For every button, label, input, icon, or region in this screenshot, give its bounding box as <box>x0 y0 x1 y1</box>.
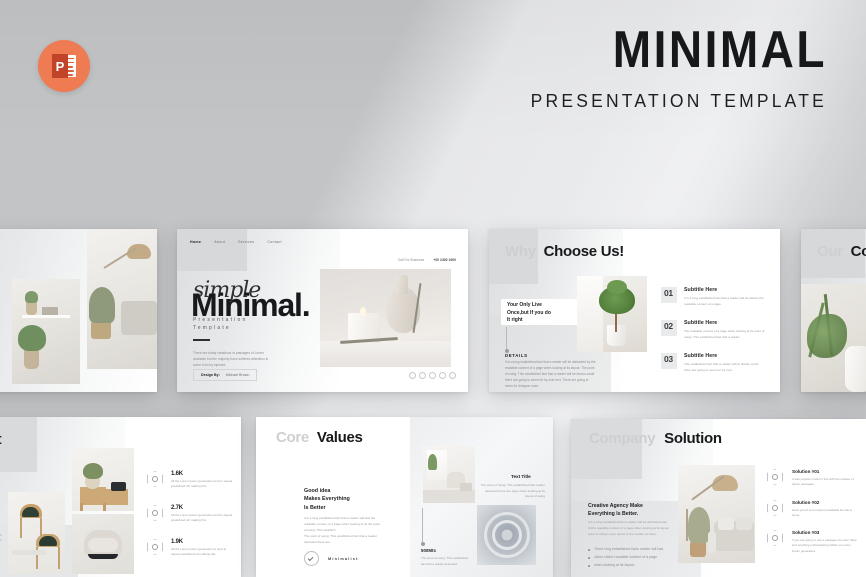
powerpoint-icon[interactable]: P <box>38 40 90 92</box>
hero-subtitle-1: Presentation <box>193 316 247 324</box>
idea-icon <box>767 469 783 485</box>
people-icon <box>147 539 163 555</box>
right-title: Text Title <box>511 474 531 479</box>
stat-body-text: All the Lorem Ipsum generators tend to r… <box>171 513 233 524</box>
photo-lamp <box>87 229 157 369</box>
preview-canvas: P MINIMAL PRESENTATION TEMPLATE <box>0 0 866 577</box>
solution-body-text: If you are going to use a passage of Lor… <box>792 538 859 554</box>
details-body: It is a long established fact that a rea… <box>505 360 597 390</box>
slide-surface: Our Cont <box>801 229 866 392</box>
photo-vase-table <box>72 448 134 511</box>
badge-label: Minimalist <box>328 557 359 561</box>
stat-body-text: All the Lorem Ipsum generators tend to r… <box>171 479 233 490</box>
lead-line-2: Makes Everything <box>304 495 350 503</box>
heading-ghost: Why <box>505 243 536 260</box>
social-dot-2[interactable] <box>419 372 426 379</box>
solution-title: Solution #02 <box>792 500 859 505</box>
bullet-item: when looking at its layout. <box>588 563 670 567</box>
item-body: It is a long established fact that a rea… <box>684 296 766 307</box>
solution-row[interactable]: Solution #02 Have you of Lorem Ipsum ava… <box>767 500 859 519</box>
nav-item-services[interactable]: Services <box>238 240 254 244</box>
slide-our-contact[interactable]: Our Cont <box>801 229 866 392</box>
vertical-rule <box>422 508 423 544</box>
stat-value: 1.6K <box>171 471 233 477</box>
photo-plant <box>577 276 647 352</box>
powerpoint-letter: P <box>52 54 68 78</box>
lead-line-1: Creative Agency Make <box>588 503 643 511</box>
solution-row[interactable]: Solution #03 If you are going to use a p… <box>767 530 859 554</box>
slide-product[interactable]: oduct vestor Deck uct. <box>0 417 241 577</box>
list-item[interactable]: 01 Subtitle Here It is a long establishe… <box>661 287 766 307</box>
slide-hero[interactable]: Home About Services Contact Call For Bus… <box>177 229 468 392</box>
slide-surface: Core Values Good idea Makes Everything I… <box>256 417 553 577</box>
page-subtitle: PRESENTATION TEMPLATE <box>531 90 827 112</box>
stat-body-text: All the Lorem Ipsum generators te tend t… <box>171 547 233 558</box>
slide-heading: oduct <box>0 431 1 448</box>
list-item[interactable]: 02 Subtitle Here The readable content of… <box>661 320 766 340</box>
stat-body: 1.9K All the Lorem Ipsum generators te t… <box>171 539 233 558</box>
credit-label: Design By: <box>201 373 220 377</box>
slide-heading: Our Cont <box>817 243 866 260</box>
minimalist-badge[interactable]: Minimalist <box>304 551 359 566</box>
quote-line-3: It right <box>507 317 551 325</box>
metric-body: The point of using. This established fac… <box>421 556 469 567</box>
stat-value: 2.7K <box>171 505 233 511</box>
item-body: The readable content of a page when look… <box>684 329 766 340</box>
slide-nav[interactable]: Home About Services Contact <box>190 240 282 244</box>
target-icon <box>767 530 783 546</box>
badge-icon <box>147 471 163 487</box>
solution-title: Solution #03 <box>792 530 859 535</box>
solution-row[interactable]: Solution #01 It was popular model in thi… <box>767 469 859 488</box>
stat-row[interactable]: 1.6K All the Lorem Ipsum generators tend… <box>147 471 233 490</box>
slide-surface: Why Choose Us! Your Only Live Once,but I… <box>489 229 780 392</box>
social-dots[interactable] <box>409 372 456 379</box>
lead-body-lines <box>0 534 2 549</box>
lead-line-3: Is Better <box>304 504 350 512</box>
item-number: 02 <box>664 321 673 331</box>
stat-row[interactable]: 1.9K All the Lorem Ipsum generators te t… <box>147 539 233 558</box>
stat-body: 2.7K All the Lorem Ipsum generators tend… <box>171 505 233 524</box>
bullet-item: cliche cliche readable content of a page <box>588 555 670 559</box>
bullet-item: There long established facts reader will… <box>588 547 670 551</box>
lead-text: Good idea Makes Everything Is Better <box>304 487 350 512</box>
credit-tag: Design By: Michael Brown <box>193 369 257 381</box>
photo-lamp-sofa <box>678 465 755 563</box>
list-item[interactable]: 03 Subtitle Here This established fact t… <box>661 353 766 373</box>
powerpoint-glyph: P <box>52 54 76 78</box>
heading-solid: Solution <box>664 430 722 447</box>
item-title: Subtitle Here <box>684 353 766 359</box>
contact-phone: +00 2400 1900 <box>433 258 456 262</box>
body-2: The point of using. This established fac… <box>304 534 382 546</box>
body-text: It is a long established fact a reader w… <box>588 520 670 538</box>
group-icon <box>147 505 163 521</box>
bulb-icon <box>767 500 783 516</box>
slide-heading: Why Choose Us! <box>505 243 624 260</box>
item-number: 01 <box>664 288 673 298</box>
photo-armchair <box>72 514 134 574</box>
stat-body: 1.6K All the Lorem Ipsum generators tend… <box>171 471 233 490</box>
slide-company-solution[interactable]: Company Solution Creative Agency Make Ev… <box>571 419 866 577</box>
page-title: MINIMAL <box>531 22 827 76</box>
contact-label: Call For Business <box>398 258 425 262</box>
item-number-box: 02 <box>661 320 677 336</box>
heading-ghost: Our <box>817 243 843 260</box>
photo-vase-candle <box>320 269 451 367</box>
item-body-wrap: Subtitle Here It is a long established f… <box>684 287 766 307</box>
item-body-wrap: Subtitle Here The readable content of a … <box>684 320 766 340</box>
photo-chair-left <box>8 492 65 574</box>
item-number-box: 03 <box>661 353 677 369</box>
item-body-wrap: Subtitle Here This established fact that… <box>684 353 766 373</box>
quote-block: Your Only Live Once,but If you do It rig… <box>507 302 551 325</box>
heading-ghost: Core <box>276 429 309 446</box>
slide-surface: oduct vestor Deck uct. <box>0 417 241 577</box>
hero-divider <box>193 339 210 341</box>
photo-spiral-stairs <box>477 505 536 565</box>
slide-heading: Company Solution <box>589 430 722 447</box>
heading-ghost: Company <box>589 430 655 447</box>
bullet-list: There long established facts reader will… <box>588 547 670 571</box>
solution-body-text: It was popular model in this with the re… <box>792 477 859 488</box>
details-label: DETAILS <box>505 353 528 358</box>
photo-eucalyptus-vase <box>801 284 866 392</box>
social-dot-4[interactable] <box>439 372 446 379</box>
quote-line-2: Once,but If you do <box>507 310 551 318</box>
slide-why-choose-us[interactable]: Why Choose Us! Your Only Live Once,but I… <box>489 229 780 392</box>
social-dot-3[interactable] <box>429 372 436 379</box>
nav-item-contact[interactable]: Contact <box>267 240 282 244</box>
check-circle-icon <box>304 551 319 566</box>
heading-solid: Cont <box>851 243 866 260</box>
slide-left-partial[interactable]: re re <box>0 229 157 392</box>
contact-info: Call For Business +00 2400 1900 <box>398 258 456 262</box>
slide-corner-block <box>0 417 37 472</box>
lead-line-1: Good idea <box>304 487 350 495</box>
social-dot-1[interactable] <box>409 372 416 379</box>
solution-body: Solution #02 Have you of Lorem Ipsum ava… <box>792 500 859 519</box>
slide-corner-block <box>177 229 247 271</box>
nav-item-home[interactable]: Home <box>190 240 201 244</box>
slide-core-values[interactable]: Core Values Good idea Makes Everything I… <box>256 417 553 577</box>
item-body: This established fact that a reader will… <box>684 362 766 373</box>
hero-body: There are today variations of passages o… <box>193 350 271 368</box>
slide-surface: Home About Services Contact Call For Bus… <box>177 229 468 392</box>
lead-text: Creative Agency Make Everything Is Bette… <box>588 503 643 519</box>
slide-surface: re re <box>0 229 157 392</box>
nav-item-about[interactable]: About <box>214 240 225 244</box>
solution-body-text: Have you of Lorem Ipsum available but th… <box>792 508 859 519</box>
stat-row[interactable]: 2.7K All the Lorem Ipsum generators tend… <box>147 505 233 524</box>
stat-value: 1.9K <box>171 539 233 545</box>
lead-line-2: Everything Is Better. <box>588 511 643 519</box>
item-title: Subtitle Here <box>684 287 766 293</box>
solution-title: Solution #01 <box>792 469 859 474</box>
hero-subtitle-2: Template <box>193 324 231 332</box>
credit-name: Michael Brown <box>226 373 250 377</box>
body-1: It is a long established fact that a rea… <box>304 516 382 534</box>
photo-shelf <box>12 279 80 384</box>
social-dot-5[interactable] <box>449 372 456 379</box>
item-title: Subtitle Here <box>684 320 766 326</box>
quote-line-1: Your Only Live <box>507 302 551 310</box>
item-number-box: 01 <box>661 287 677 303</box>
slide-corner-block <box>571 419 642 479</box>
solution-body: Solution #01 It was popular model in thi… <box>792 469 859 488</box>
heading-solid: Choose Us! <box>544 243 624 260</box>
heading-solid: Values <box>317 429 363 446</box>
slide-surface: Company Solution Creative Agency Make Ev… <box>571 419 866 577</box>
solution-body: Solution #03 If you are going to use a p… <box>792 530 859 554</box>
page-title-block: MINIMAL PRESENTATION TEMPLATE <box>531 28 827 111</box>
vertical-rule <box>506 327 507 351</box>
metric-label: 500Mts <box>421 548 436 553</box>
right-body: The point of using. This established fac… <box>479 483 545 500</box>
photo-chair-window <box>423 446 475 503</box>
item-number: 03 <box>664 354 673 364</box>
slide-heading: Core Values <box>276 429 363 446</box>
